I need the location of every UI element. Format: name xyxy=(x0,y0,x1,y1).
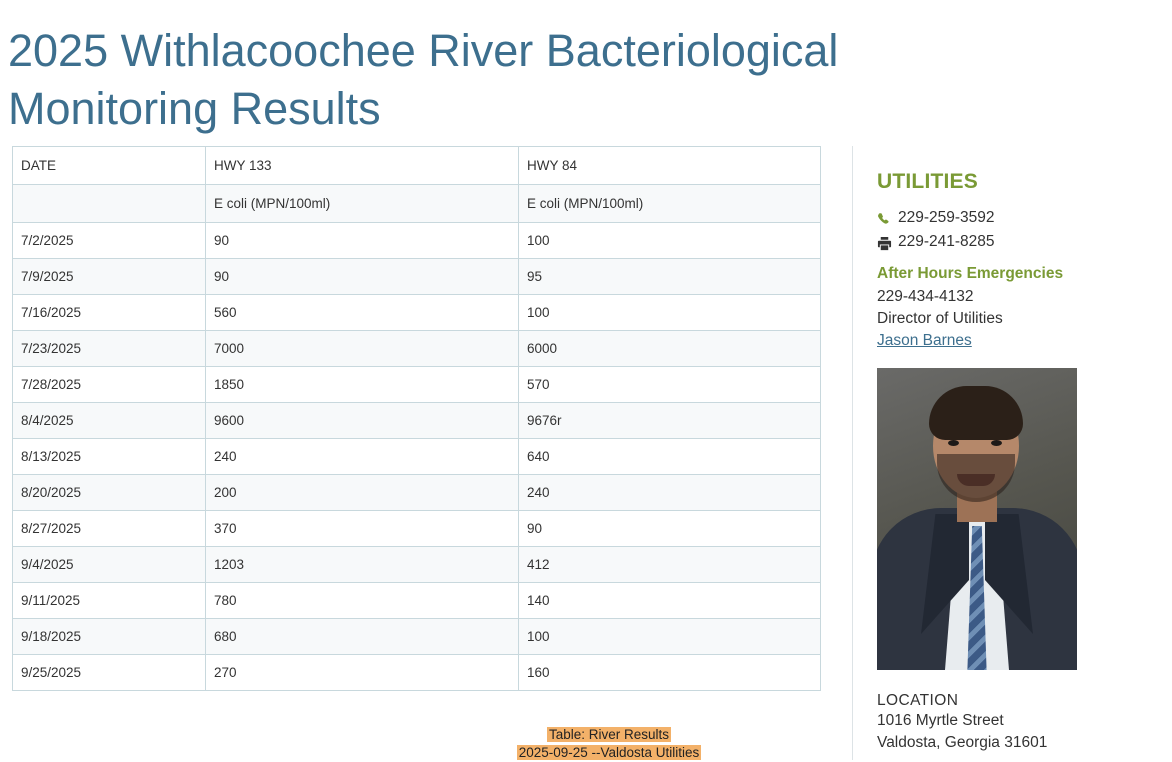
table-header-hwy84: HWY 84 xyxy=(519,147,821,185)
sidebar-fax-number: 229-241-8285 xyxy=(898,230,995,254)
cell-hwy133: 240 xyxy=(206,439,519,475)
cell-hwy133: 270 xyxy=(206,655,519,691)
cell-date: 9/25/2025 xyxy=(13,655,206,691)
cell-hwy84: 100 xyxy=(519,223,821,259)
table-header-date: DATE xyxy=(13,147,206,185)
table-subheader-blank xyxy=(13,185,206,223)
cell-hwy133: 1203 xyxy=(206,547,519,583)
portrait-brow-right xyxy=(983,430,1009,436)
cell-date: 9/4/2025 xyxy=(13,547,206,583)
cell-hwy133: 9600 xyxy=(206,403,519,439)
sidebar-phone-row: 229-259-3592 xyxy=(877,206,1172,230)
main-content: DATE HWY 133 HWY 84 E coli (MPN/100ml) E… xyxy=(12,146,820,691)
cell-hwy133: 1850 xyxy=(206,367,519,403)
cell-hwy133: 780 xyxy=(206,583,519,619)
sidebar: UTILITIES 229-259-3592 229-241-8285 Afte… xyxy=(852,146,1172,760)
cell-hwy84: 9676r xyxy=(519,403,821,439)
cell-hwy133: 680 xyxy=(206,619,519,655)
caption-line-2: 2025-09-25 --Valdosta Utilities xyxy=(517,745,702,760)
sidebar-fax-row: 229-241-8285 xyxy=(877,230,1172,254)
cell-date: 8/4/2025 xyxy=(13,403,206,439)
cell-hwy84: 640 xyxy=(519,439,821,475)
caption-line-1: Table: River Results xyxy=(547,727,671,742)
table-row: 9/25/2025 270 160 xyxy=(13,655,821,691)
phone-icon xyxy=(877,212,892,227)
table-header-row-1: DATE HWY 133 HWY 84 xyxy=(13,147,821,185)
table-caption: Table: River Results 2025-09-25 --Valdos… xyxy=(484,726,734,762)
sidebar-address-line-1: 1016 Myrtle Street xyxy=(877,710,1172,732)
cell-date: 7/28/2025 xyxy=(13,367,206,403)
table-header-hwy133: HWY 133 xyxy=(206,147,519,185)
cell-date: 8/27/2025 xyxy=(13,511,206,547)
printer-icon xyxy=(877,236,892,251)
table-row: 8/13/2025 240 640 xyxy=(13,439,821,475)
table-row: 7/2/2025 90 100 xyxy=(13,223,821,259)
cell-hwy133: 90 xyxy=(206,223,519,259)
sidebar-address-line-2: Valdosta, Georgia 31601 xyxy=(877,732,1172,754)
cell-hwy84: 140 xyxy=(519,583,821,619)
table-subheader-hwy84-unit: E coli (MPN/100ml) xyxy=(519,185,821,223)
director-portrait xyxy=(877,368,1077,670)
cell-date: 9/18/2025 xyxy=(13,619,206,655)
cell-date: 8/13/2025 xyxy=(13,439,206,475)
cell-hwy84: 6000 xyxy=(519,331,821,367)
cell-hwy84: 100 xyxy=(519,619,821,655)
portrait-eye-right xyxy=(991,440,1002,446)
cell-hwy133: 90 xyxy=(206,259,519,295)
sidebar-director-link[interactable]: Jason Barnes xyxy=(877,330,1172,352)
table-row: 9/11/2025 780 140 xyxy=(13,583,821,619)
cell-hwy133: 560 xyxy=(206,295,519,331)
cell-hwy84: 90 xyxy=(519,511,821,547)
cell-hwy84: 240 xyxy=(519,475,821,511)
cell-hwy133: 7000 xyxy=(206,331,519,367)
table-row: 7/23/2025 7000 6000 xyxy=(13,331,821,367)
table-row: 7/28/2025 1850 570 xyxy=(13,367,821,403)
sidebar-location-label: LOCATION xyxy=(877,692,1172,710)
sidebar-director-label: Director of Utilities xyxy=(877,308,1172,330)
cell-hwy84: 160 xyxy=(519,655,821,691)
sidebar-after-hours-phone: 229-434-4132 xyxy=(877,286,1172,308)
table-row: 9/18/2025 680 100 xyxy=(13,619,821,655)
table-row: 7/9/2025 90 95 xyxy=(13,259,821,295)
sidebar-title: UTILITIES xyxy=(877,170,1172,194)
river-results-table: DATE HWY 133 HWY 84 E coli (MPN/100ml) E… xyxy=(12,146,821,691)
cell-hwy84: 100 xyxy=(519,295,821,331)
table-subheader-hwy133-unit: E coli (MPN/100ml) xyxy=(206,185,519,223)
table-row: 9/4/2025 1203 412 xyxy=(13,547,821,583)
cell-hwy84: 570 xyxy=(519,367,821,403)
cell-date: 9/11/2025 xyxy=(13,583,206,619)
cell-hwy133: 370 xyxy=(206,511,519,547)
portrait-brow-left xyxy=(941,430,967,436)
cell-hwy84: 95 xyxy=(519,259,821,295)
sidebar-phone-number: 229-259-3592 xyxy=(898,206,995,230)
cell-hwy84: 412 xyxy=(519,547,821,583)
table-row: 8/27/2025 370 90 xyxy=(13,511,821,547)
cell-date: 7/2/2025 xyxy=(13,223,206,259)
cell-hwy133: 200 xyxy=(206,475,519,511)
cell-date: 7/16/2025 xyxy=(13,295,206,331)
table-row: 7/16/2025 560 100 xyxy=(13,295,821,331)
portrait-mouth xyxy=(957,474,995,486)
cell-date: 7/9/2025 xyxy=(13,259,206,295)
page-root: 2025 Withlacoochee River Bacteriological… xyxy=(0,0,1172,760)
page-title: 2025 Withlacoochee River Bacteriological… xyxy=(8,22,968,138)
table-row: 8/20/2025 200 240 xyxy=(13,475,821,511)
table-row: 8/4/2025 9600 9676r xyxy=(13,403,821,439)
cell-date: 7/23/2025 xyxy=(13,331,206,367)
sidebar-after-hours-label: After Hours Emergencies xyxy=(877,262,1172,286)
cell-date: 8/20/2025 xyxy=(13,475,206,511)
portrait-eye-left xyxy=(948,440,959,446)
table-header-row-2: E coli (MPN/100ml) E coli (MPN/100ml) xyxy=(13,185,821,223)
